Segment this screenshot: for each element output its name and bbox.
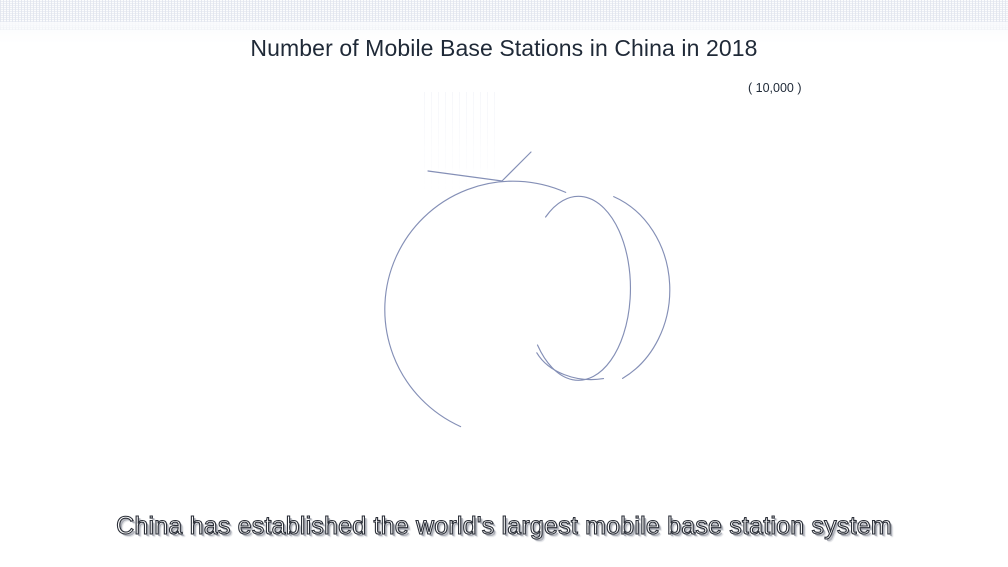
inner-ellipse-arc [538,196,631,380]
pie-chart-graphic [0,0,1008,567]
outer-circle-arc [385,181,566,426]
scan-noise-band [0,0,1008,30]
page-title: Number of Mobile Base Stations in China … [0,34,1008,62]
lower-arc-tail [537,353,604,380]
caption-container: China has established the world's larges… [0,508,1008,544]
caption-text: China has established the world's larges… [116,508,892,544]
slide-canvas: Number of Mobile Base Stations in China … [0,0,1008,567]
exploded-wedge-edges [428,152,531,181]
chart-unit-label: ( 10,000 ) [748,80,802,97]
outer-right-arc [614,197,670,379]
erased-artifact-streaks [424,92,500,192]
